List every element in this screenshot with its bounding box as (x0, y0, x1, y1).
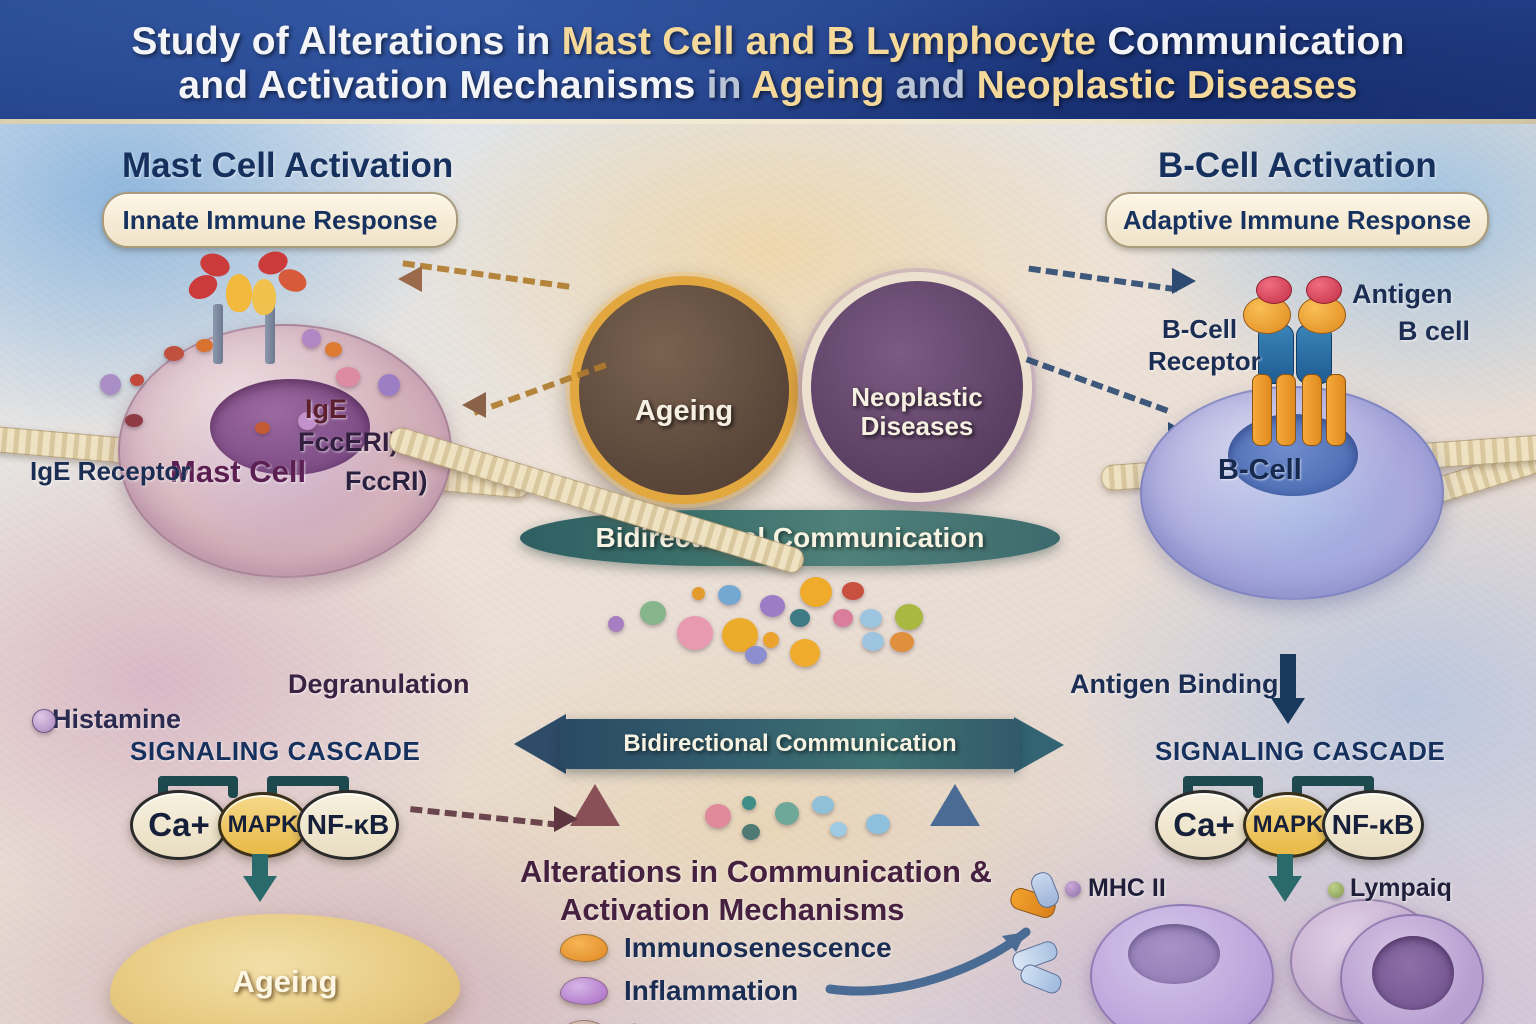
antigen-label: Antigen (1352, 279, 1453, 310)
mediator-particle (677, 616, 713, 650)
title-segment-3: Communication (1096, 20, 1404, 63)
mediator-particle (890, 632, 914, 652)
cascade-node-mapk[interactable]: MAPK (1243, 792, 1333, 858)
legend-swatch-icon (560, 1020, 608, 1024)
lymphoma-cell-nucleus (1372, 936, 1454, 1010)
mediator-particle (640, 601, 666, 625)
bcr-leg (1276, 374, 1296, 446)
bcr-leg (1326, 374, 1346, 446)
cascade-bracket-right (267, 776, 349, 786)
cascade-node-nfkb[interactable]: NF-κB (1322, 790, 1424, 860)
mediator-particle (842, 582, 864, 600)
granule (336, 367, 360, 387)
granule (100, 374, 121, 395)
bcr-leg (1302, 374, 1322, 446)
left-panel-heading: Mast Cell Activation (122, 146, 453, 186)
fcri-label: FccRI) (345, 466, 428, 497)
cascade-bracket-left3 (228, 776, 238, 798)
title-segment-8: Neoplastic Diseases (977, 64, 1358, 107)
b-cell-label: B-Cell (1218, 454, 1302, 487)
mediator-particle (742, 824, 760, 840)
bcr-label-line1: B-Cell (1162, 314, 1237, 345)
legend-swatch-icon (560, 977, 608, 1005)
bcell-arrow-label: B cell (1398, 316, 1470, 347)
title-segment-6: Ageing (751, 64, 884, 107)
mediator-particle (763, 632, 779, 648)
mediator-particle (866, 814, 890, 834)
fceri-label: FccERI) (298, 427, 399, 458)
poster-canvas: Study of Alterations in Mast Cell and B … (0, 0, 1536, 1024)
cascade-arrow-head (243, 876, 277, 902)
title-segment-2: Mast Cell and B Lymphocyte (562, 20, 1097, 63)
right-panel-heading: B-Cell Activation (1158, 146, 1437, 186)
mediator-particle (692, 587, 705, 600)
mediator-particle (790, 639, 820, 667)
antigen-cap (1256, 276, 1292, 304)
neoplastic-circle-label: NeoplasticDiseases (851, 383, 983, 441)
title-segment-7: and (885, 64, 977, 107)
legend-label: Inflammation (624, 975, 798, 1007)
cascade-bracket-left (1183, 776, 1263, 786)
bidirectional-arrow-left (514, 714, 566, 774)
mediator-particle (718, 585, 741, 605)
cascade-node-ca[interactable]: Ca+ (130, 790, 228, 860)
bidirectional-band-bottom: Bidirectional Communication (560, 719, 1020, 769)
title-segment-5: in (696, 64, 752, 107)
neoplastic-circle: NeoplasticDiseases (802, 272, 1032, 502)
neo-line1: Neoplastic (851, 382, 983, 412)
mediator-particle (895, 604, 923, 630)
title-segment-1: Study of Alterations in (131, 20, 561, 63)
ige-receptor-label: IgE Receptor (30, 456, 190, 487)
legend-swatch-icon (560, 934, 608, 962)
mediator-particle (830, 822, 847, 837)
cascade-bracket-left (158, 776, 238, 786)
granule (125, 414, 143, 427)
legend-item-cancer: Cancer (560, 1018, 892, 1024)
ageing-circle: Ageing (570, 276, 798, 504)
cascade-arrow-stem (1277, 854, 1293, 878)
arrow-triangle-right (930, 784, 980, 826)
right-panel-badge: Adaptive Immune Response (1105, 192, 1489, 248)
connector-arrowhead (398, 266, 422, 292)
right-cascade-title: SIGNALING CASCADE (1155, 736, 1415, 767)
cascade-arrow-stem (252, 854, 268, 878)
granule (302, 329, 321, 348)
plasma-cell-nucleus (1128, 924, 1220, 984)
mediator-particle (705, 804, 731, 828)
antigen-binding-arrow-stem (1280, 654, 1296, 702)
left-cascade-title: SIGNALING CASCADE (130, 736, 390, 767)
cascade-node-ca[interactable]: Ca+ (1155, 790, 1253, 860)
mediator-particle (745, 646, 767, 664)
histamine-label: Histamine (52, 704, 181, 735)
mediator-particle (775, 802, 799, 825)
mediator-particle (760, 595, 785, 617)
antibody-production-label: Antibody (Ab) Production (1007, 1019, 1348, 1024)
antigen-binding-label: Antigen Binding (1070, 669, 1278, 700)
right-signaling-cascade: SIGNALING CASCADE (1155, 736, 1415, 767)
granule (164, 346, 184, 361)
ageing-circle-label: Ageing (635, 395, 733, 427)
granule (196, 339, 213, 352)
poster-title-bar: Study of Alterations in Mast Cell and B … (0, 0, 1536, 124)
granule (130, 374, 144, 386)
title-segment-4: and Activation Mechanisms (178, 64, 695, 107)
legend-label: Cancer (624, 1018, 719, 1024)
cascade-bracket-right (1292, 776, 1374, 786)
mediator-particle (862, 632, 884, 651)
mast-cell-label: Mast Cell (170, 454, 306, 490)
cascade-bracket-left3 (1253, 776, 1263, 798)
cascade-node-mapk[interactable]: MAPK (218, 792, 308, 858)
left-signaling-cascade: SIGNALING CASCADE (130, 736, 390, 767)
mediator-particle (833, 609, 853, 627)
connector-arrowhead (1172, 268, 1196, 294)
mediator-particle (742, 796, 756, 810)
cascade-node-nfkb[interactable]: NF-κB (297, 790, 399, 860)
granule (378, 374, 400, 396)
lymphoid-label: Lympaiq (1350, 874, 1452, 903)
mhc-dot-icon (1065, 881, 1081, 897)
title-line-2: and Activation Mechanisms in Ageing and … (178, 64, 1357, 108)
connector-arrowhead (554, 806, 578, 832)
mediator-particle (800, 577, 832, 607)
neo-line2: Diseases (861, 411, 974, 441)
lymphoid-dot-icon (1328, 882, 1344, 898)
mediator-particle (608, 616, 624, 632)
ige-label: IgE (305, 394, 347, 425)
connector-arrowhead (462, 392, 486, 418)
ige-receptor-stem (213, 304, 223, 364)
mediator-particle (812, 796, 834, 814)
left-panel-badge: Innate Immune Response (102, 192, 458, 248)
antigen-binding-arrow-head (1271, 698, 1305, 724)
ige-receptor-cap (252, 279, 276, 315)
histamine-dot-icon (32, 709, 56, 733)
ige-receptor-cap (226, 274, 252, 312)
mediator-particle (860, 609, 882, 628)
curved-arrow-to-antibody (830, 884, 1060, 1004)
antigen-cap (1306, 276, 1342, 304)
mhc-label: MHC II (1088, 874, 1166, 903)
diagram-canvas: Mast Cell Activation Innate Immune Respo… (0, 124, 1536, 1024)
granule (325, 342, 342, 357)
granule (255, 422, 270, 434)
bcr-leg (1252, 374, 1272, 446)
mediator-particle (790, 609, 810, 627)
title-line-1: Study of Alterations in Mast Cell and B … (131, 20, 1404, 64)
bidirectional-arrow-right (1014, 717, 1064, 773)
bcr-label-line2: Receptor (1148, 346, 1261, 377)
cascade-arrow-head (1268, 876, 1302, 902)
degranulation-label: Degranulation (288, 669, 470, 700)
